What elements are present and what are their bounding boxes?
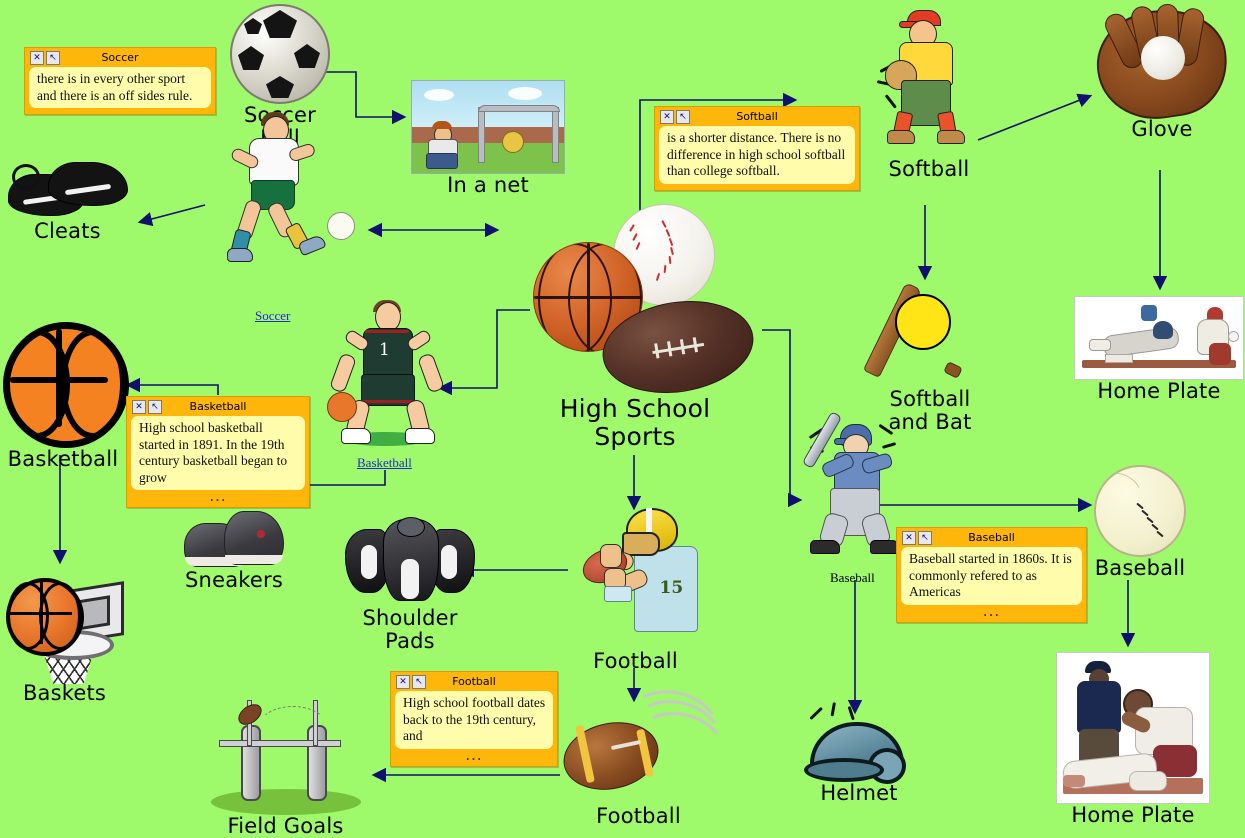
- note-ellipsis-basketball: ...: [131, 492, 305, 501]
- note-titlebar-soccer: ✕ ↖ Soccer: [29, 51, 211, 64]
- note-ellipsis-baseball: ...: [901, 607, 1082, 616]
- sneakers-icon: [184, 505, 284, 569]
- soccer-goal-scene-icon: [411, 80, 565, 174]
- node-field-goals[interactable]: Field Goals: [208, 700, 363, 838]
- concept-map-canvas[interactable]: High School Sports Soccer Ball In a net: [0, 0, 1245, 838]
- note-basketball[interactable]: ✕ ↖ Basketball High school basketball st…: [126, 396, 310, 508]
- node-baskets[interactable]: Baskets: [2, 572, 127, 705]
- batting-helmet-icon: [804, 712, 914, 782]
- node-label-basketball-player[interactable]: Basketball: [357, 455, 412, 471]
- node-sneakers[interactable]: Sneakers: [180, 505, 288, 592]
- basketball-cartoon-icon: [3, 322, 129, 448]
- node-label-home-plate-top: Home Plate: [1074, 380, 1244, 403]
- root-art-ball-cluster: [510, 200, 760, 395]
- baseball-glove-icon: [1097, 10, 1227, 118]
- node-baseball-ball[interactable]: Baseball: [1085, 465, 1195, 580]
- node-in-a-net[interactable]: In a net: [410, 80, 566, 197]
- shoulder-pads-icon: [345, 515, 475, 607]
- note-body-baseball: Baseball started in 1860s. It is commonl…: [901, 547, 1082, 605]
- node-home-plate-bottom[interactable]: Home Plate: [1055, 652, 1211, 827]
- home-plate-tag-scene-icon: [1056, 652, 1210, 804]
- restore-icon[interactable]: ↖: [918, 531, 932, 545]
- node-label-football-ball: Football: [556, 805, 721, 828]
- node-label-shoulder-pads: Shoulder Pads: [340, 607, 480, 653]
- node-label-helmet: Helmet: [800, 782, 918, 805]
- node-label-baseball-ball: Baseball: [1085, 557, 1195, 580]
- flying-football-icon: [559, 695, 719, 805]
- close-icon[interactable]: ✕: [30, 51, 44, 65]
- note-titlebar-football: ✕ ↖ Football: [395, 675, 553, 688]
- root-node-high-school-sports[interactable]: High School Sports: [510, 200, 760, 451]
- node-label-glove: Glove: [1095, 118, 1229, 141]
- close-icon[interactable]: ✕: [132, 400, 146, 414]
- football-quarterback-icon: 15: [574, 508, 698, 650]
- note-softball[interactable]: ✕ ↖ Softball is a shorter distance. Ther…: [654, 106, 860, 191]
- note-body-football: High school football dates back to the 1…: [395, 691, 553, 749]
- home-plate-slide-scene-icon: [1074, 296, 1244, 380]
- basketball-hoop-icon: [6, 572, 124, 682]
- close-icon[interactable]: ✕: [902, 531, 916, 545]
- restore-icon[interactable]: ↖: [46, 51, 60, 65]
- node-label-field-goals: Field Goals: [208, 815, 363, 838]
- root-label: High School Sports: [510, 395, 760, 451]
- soccer-cleats-icon: [8, 150, 128, 220]
- node-shoulder-pads[interactable]: Shoulder Pads: [340, 515, 480, 653]
- node-label-basketball: Basketball: [3, 448, 123, 471]
- node-basketball-player[interactable]: 1 Basketball: [325, 300, 450, 475]
- note-baseball[interactable]: ✕ ↖ Baseball Baseball started in 1860s. …: [896, 527, 1087, 623]
- note-titlebar-softball: ✕ ↖ Softball: [659, 110, 855, 123]
- node-soccer-player[interactable]: Soccer: [195, 112, 355, 322]
- node-home-plate-top[interactable]: Home Plate: [1074, 296, 1244, 403]
- note-body-softball: is a shorter distance. There is no diffe…: [659, 126, 855, 184]
- node-football-ball[interactable]: Football: [556, 695, 721, 828]
- node-baseball-batter[interactable]: Baseball: [800, 418, 910, 588]
- node-label-softball-player: Softball: [875, 158, 983, 181]
- note-ellipsis-football: ...: [395, 751, 553, 760]
- baseball-batter-icon: [808, 418, 904, 563]
- node-cleats[interactable]: Cleats: [5, 150, 130, 243]
- note-body-basketball: High school basketball started in 1891. …: [131, 416, 305, 490]
- node-helmet[interactable]: Helmet: [800, 712, 918, 805]
- close-icon[interactable]: ✕: [396, 675, 410, 689]
- note-football[interactable]: ✕ ↖ Football High school football dates …: [390, 671, 558, 767]
- close-icon[interactable]: ✕: [660, 110, 674, 124]
- restore-icon[interactable]: ↖: [676, 110, 690, 124]
- restore-icon[interactable]: ↖: [412, 675, 426, 689]
- node-label-baseball-batter: Baseball: [830, 570, 875, 586]
- soccer-ball-icon: [230, 4, 330, 104]
- soccer-small-ball-icon: [327, 212, 355, 240]
- node-label-home-plate-bottom: Home Plate: [1055, 804, 1211, 827]
- node-label-baskets: Baskets: [2, 682, 127, 705]
- note-titlebar-baseball: ✕ ↖ Baseball: [901, 531, 1082, 544]
- hoop-basketball-icon: [6, 578, 84, 656]
- restore-icon[interactable]: ↖: [148, 400, 162, 414]
- node-label-sneakers: Sneakers: [180, 569, 288, 592]
- node-glove[interactable]: Glove: [1095, 10, 1229, 141]
- softball-and-bat-icon: [883, 278, 977, 388]
- soccer-player-icon: [207, 112, 327, 262]
- node-label-soccer-player[interactable]: Soccer: [255, 308, 290, 324]
- baseball-ball-icon: [1094, 465, 1186, 557]
- basketball-player-icon: 1: [331, 300, 441, 450]
- softball-pitcher-icon: [877, 8, 981, 158]
- node-football-player[interactable]: 15 Football: [568, 508, 703, 673]
- node-label-in-a-net: In a net: [410, 174, 566, 197]
- node-label-football-player: Football: [568, 650, 703, 673]
- node-softball-and-bat[interactable]: Softball and Bat: [875, 278, 985, 434]
- node-label-cleats: Cleats: [5, 220, 130, 243]
- field-goal-post-icon: [211, 700, 361, 815]
- note-titlebar-basketball: ✕ ↖ Basketball: [131, 400, 305, 413]
- note-soccer[interactable]: ✕ ↖ Soccer there is in every other sport…: [24, 47, 216, 115]
- node-basketball[interactable]: Basketball: [3, 322, 123, 471]
- node-softball-player[interactable]: Softball: [875, 8, 983, 181]
- note-body-soccer: there is in every other sport and there …: [29, 67, 211, 108]
